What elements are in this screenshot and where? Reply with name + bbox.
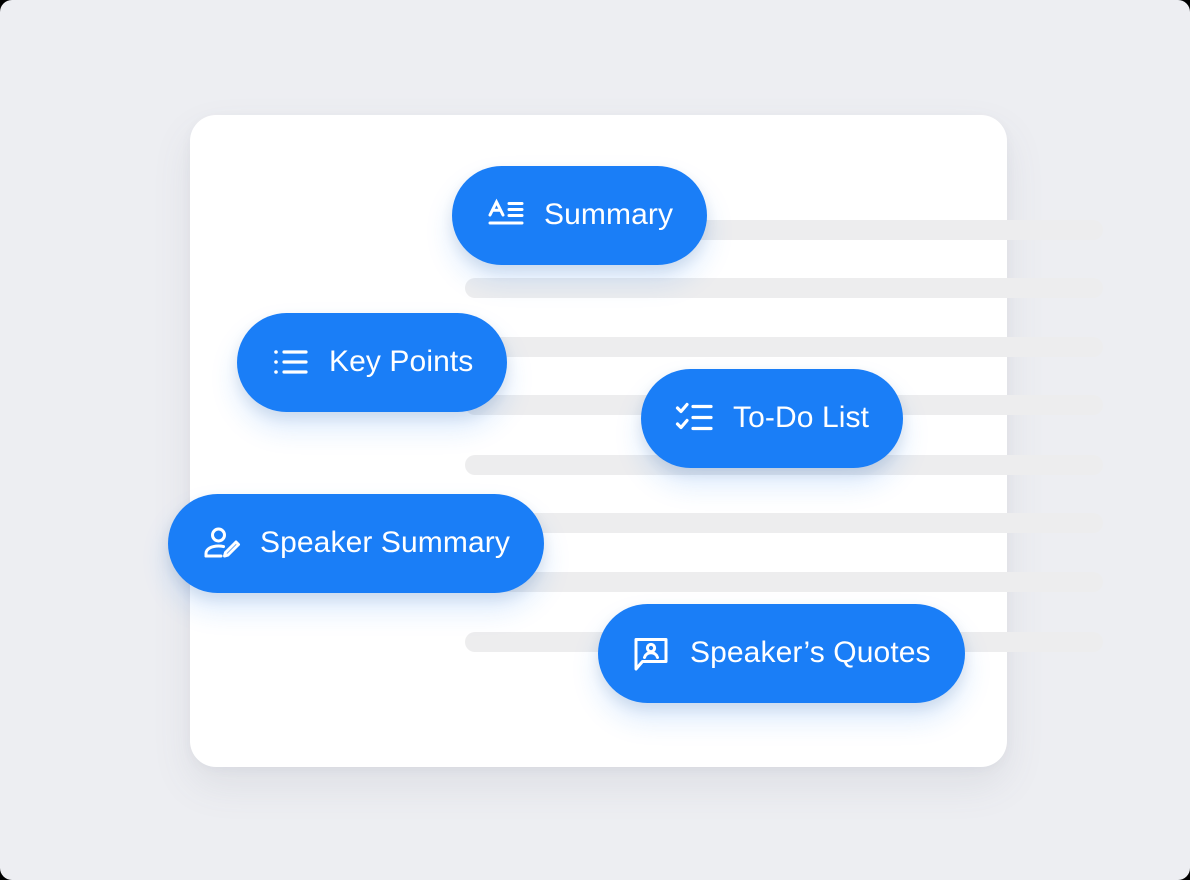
pill-label: To-Do List [733,403,869,435]
pill-label: Speaker Summary [260,528,510,560]
text-format-icon [486,196,526,236]
bulleted-list-icon [271,343,311,383]
pill-label: Summary [544,200,673,232]
pill-todo-list[interactable]: To-Do List [641,369,903,468]
person-edit-icon [202,524,242,564]
skeleton-line [465,337,1103,357]
skeleton-line [465,278,1103,298]
pill-key-points[interactable]: Key Points [237,313,507,412]
skeleton-line [465,572,1103,592]
pill-speaker-quotes[interactable]: Speaker’s Quotes [598,604,965,703]
pill-label: Key Points [329,347,473,379]
speech-bubble-person-icon [632,634,672,674]
checklist-icon [675,399,715,439]
pill-speaker-summary[interactable]: Speaker Summary [168,494,544,593]
skeleton-line [465,513,1103,533]
pill-label: Speaker’s Quotes [690,638,931,670]
illustration-canvas: Summary Key Points To-Do [0,0,1190,880]
pill-summary[interactable]: Summary [452,166,707,265]
